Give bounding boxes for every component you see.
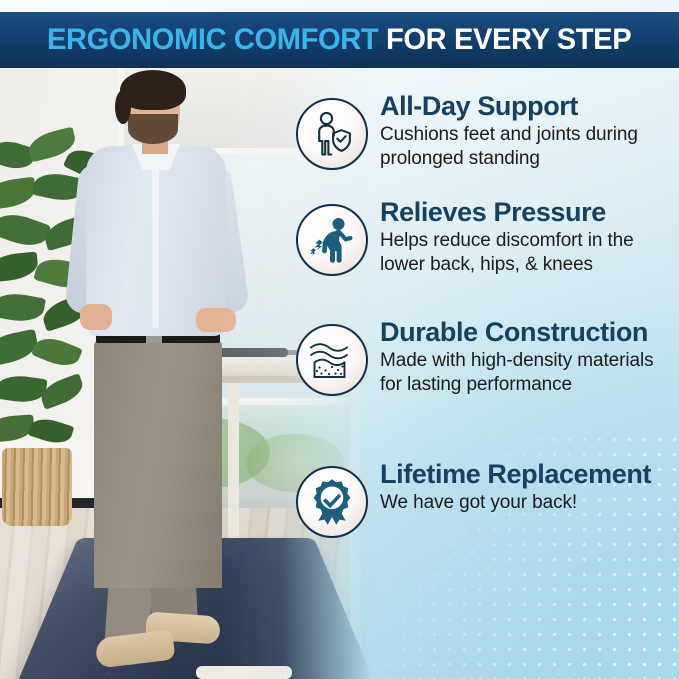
feature-body: Cushions feet and joints during prolonge… [380,123,679,171]
feature-text: Relieves Pressure Helps reduce discomfor… [380,198,679,276]
feature-body: We have got your back! [380,491,679,515]
feature-item-lifetime-replacement: Lifetime Replacement We have got your ba… [296,460,679,570]
person-trousers [94,340,222,588]
feature-body: Made with high-density materials for las… [380,349,679,397]
feature-list: All-Day Support Cushions feet and joints… [296,92,679,580]
person-hand-left [80,304,112,330]
foam-layers-icon [296,324,368,396]
person-beard [128,114,178,144]
product-feature-graphic: ERGONOMIC COMFORT FOR EVERY STEP All-Day… [0,0,679,679]
feature-item-relieves-pressure: Relieves Pressure Helps reduce discomfor… [296,198,679,308]
feature-item-all-day-support: All-Day Support Cushions feet and joints… [296,92,679,188]
shirt-placket [152,160,159,328]
feature-heading: Relieves Pressure [380,198,679,227]
award-badge-check-icon [296,466,368,538]
feature-body: Helps reduce discomfort in the lower bac… [380,229,679,277]
person-hand-right [196,308,236,332]
feature-text: Durable Construction Made with high-dens… [380,318,679,396]
person-shield-icon [296,98,368,170]
desk-foot-left [196,666,292,679]
feature-heading: All-Day Support [380,92,679,121]
banner-title-white: FOR EVERY STEP [379,23,632,56]
header-banner: ERGONOMIC COMFORT FOR EVERY STEP [0,12,679,68]
feature-item-durable-construction: Durable Construction Made with high-dens… [296,318,679,450]
feature-text: Lifetime Replacement We have got your ba… [380,460,679,515]
banner-title: ERGONOMIC COMFORT FOR EVERY STEP [47,23,631,57]
plant-basket-pot [2,448,72,526]
feature-heading: Durable Construction [380,318,679,347]
feature-text: All-Day Support Cushions feet and joints… [380,92,679,170]
person-hair-side [115,90,131,124]
back-pain-person-icon [296,204,368,276]
feature-heading: Lifetime Replacement [380,460,679,489]
banner-title-accent: ERGONOMIC COMFORT [47,23,378,56]
